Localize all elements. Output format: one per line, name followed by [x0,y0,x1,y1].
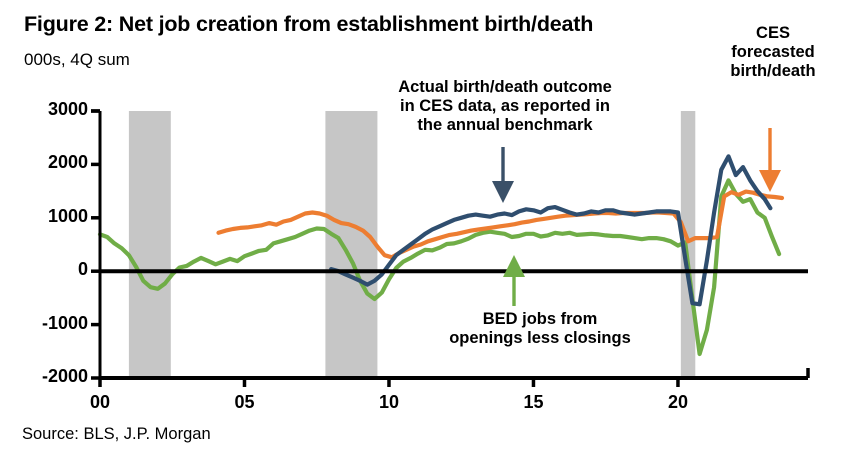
y-tick-label: -1000 [2,313,88,334]
recession-band [129,111,171,378]
y-tick-label: 3000 [2,99,88,120]
x-tick-label: 00 [80,392,120,413]
y-tick-label: -2000 [2,366,88,387]
recession-band [325,111,377,378]
annotation-arrow-green [503,255,525,306]
annotation-line: forecasted [700,43,846,62]
annotation-arrow-orange [759,128,781,192]
annotation-line: the annual benchmark [360,116,650,135]
annotation-bed-jobs: BED jobs fromopenings less closings [400,310,680,348]
x-tick-label: 15 [513,392,553,413]
annotation-arrow-navy [492,147,514,203]
annotation-actual-birth-death: Actual birth/death outcomein CES data, a… [360,78,650,135]
x-tick-label: 10 [369,392,409,413]
annotation-line: birth/death [700,62,846,81]
annotation-line: Actual birth/death outcome [360,78,650,97]
series-line-2 [331,156,770,304]
y-tick-label: 2000 [2,152,88,173]
y-tick-label: 1000 [2,206,88,227]
annotation-line: BED jobs from [400,310,680,329]
x-tick-label: 05 [224,392,264,413]
annotation-ces-forecast: CESforecastedbirth/death [700,24,846,81]
y-tick-label: 0 [2,259,88,280]
annotation-line: CES [700,24,846,43]
x-tick-label: 20 [658,392,698,413]
figure-container: Figure 2: Net job creation from establis… [0,0,852,459]
annotation-line: in CES data, as reported in [360,97,650,116]
annotation-line: openings less closings [400,329,680,348]
series-line-1 [219,192,783,258]
